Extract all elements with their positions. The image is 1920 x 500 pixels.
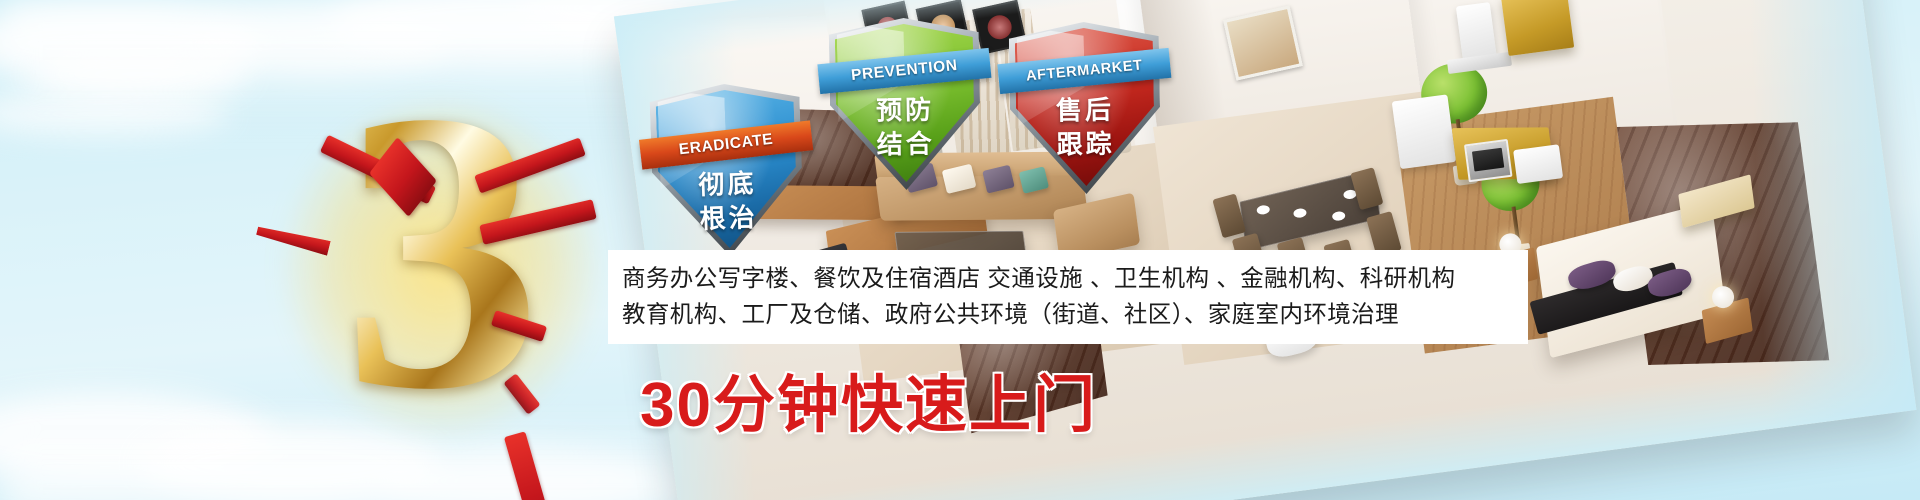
shield-badge-eradicate: ERADICATE 彻底 根治 (649, 81, 805, 258)
shield-badge-prevention: PREVENTION 预防 结合 (829, 17, 982, 192)
shield-english-label: ERADICATE (678, 131, 774, 160)
shield-english-label: PREVENTION (850, 57, 958, 85)
headline-text: 30分钟快速上门 (640, 354, 1097, 444)
promo-banner: 3 ERADICATE 彻底 根治 PREVENTION 预防 结合 (0, 0, 1920, 500)
service-scope-line-2: 教育机构、工厂及仓储、政府公共环境（街道、社区）、家庭室内环境治理 (622, 296, 1514, 332)
service-scope-card: 商务办公写字楼、餐饮及住宿酒店 交通设施 、卫生机构 、金融机构、科研机构 教育… (608, 250, 1528, 344)
shield-badge-aftermarket: AFTERMARKET 售后 跟踪 (1009, 21, 1162, 196)
shield-chinese-line2: 结合 (830, 123, 981, 163)
service-scope-line-1: 商务办公写字楼、餐饮及住宿酒店 交通设施 、卫生机构 、金融机构、科研机构 (622, 260, 1514, 296)
hero-number-3: 3 (262, 86, 622, 446)
shield-english-label: AFTERMARKET (1025, 57, 1143, 84)
shield-chinese-line2: 根治 (653, 195, 804, 237)
hero-number-glyph: 3 (262, 86, 622, 446)
shield-chinese-line2: 跟踪 (1010, 123, 1161, 163)
